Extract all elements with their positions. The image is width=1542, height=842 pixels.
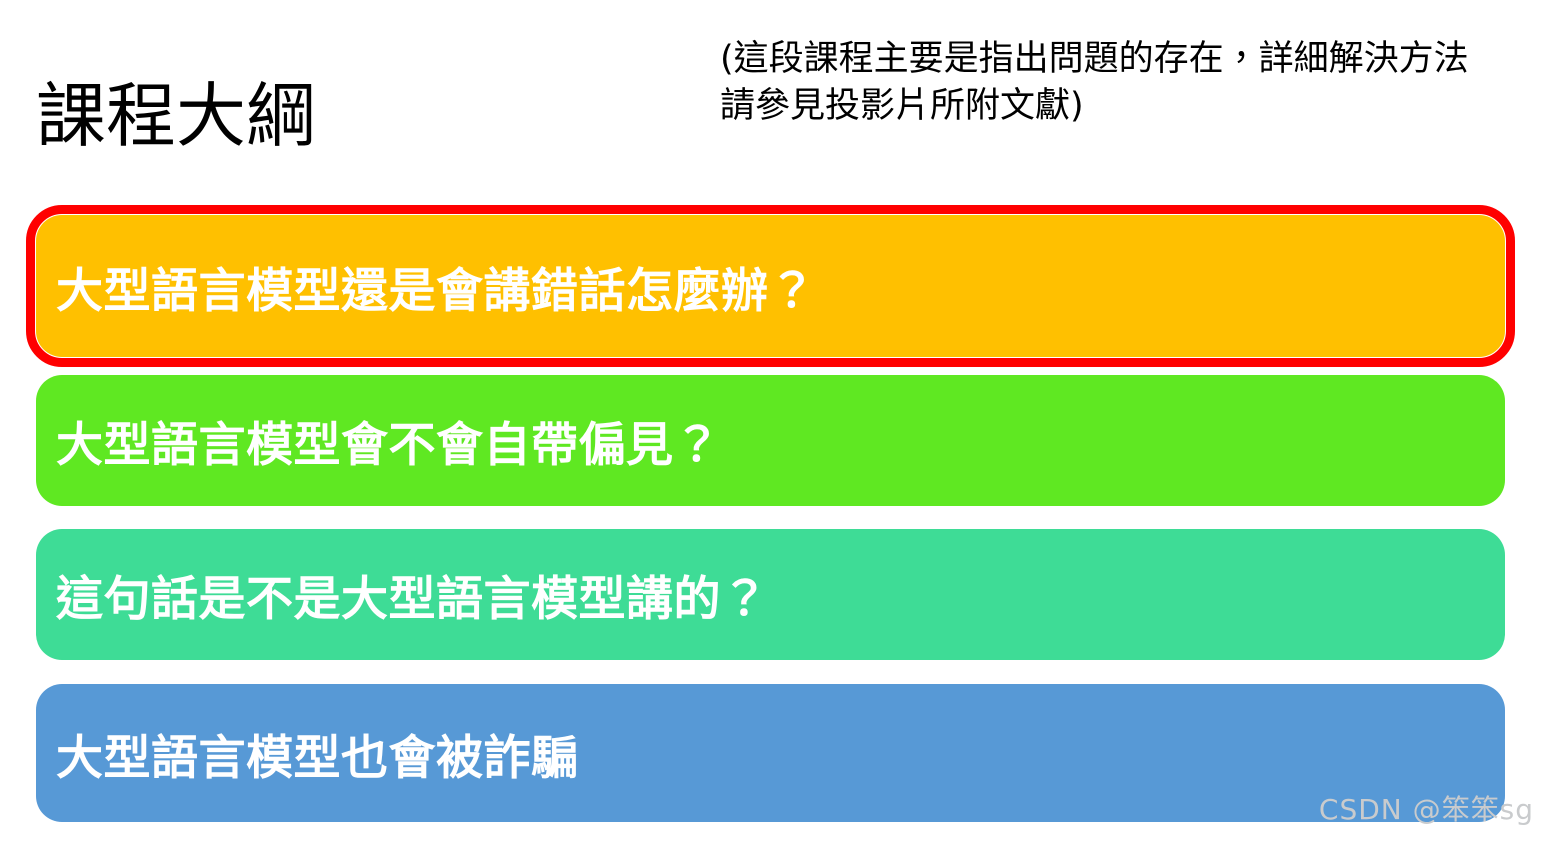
outline-label-2: 大型語言模型會不會自帶偏見？	[36, 406, 721, 475]
outline-label-3: 這句話是不是大型語言模型講的？	[36, 560, 769, 629]
outline-bar-2[interactable]: 大型語言模型會不會自帶偏見？	[36, 375, 1505, 506]
outline-label-4: 大型語言模型也會被詐騙	[36, 719, 579, 788]
outline-bar-1[interactable]: 大型語言模型還是會講錯話怎麼辦？	[36, 215, 1505, 357]
outline-list: 大型語言模型還是會講錯話怎麼辦？ 大型語言模型會不會自帶偏見？ 這句話是不是大型…	[0, 0, 1542, 842]
outline-bar-3[interactable]: 這句話是不是大型語言模型講的？	[36, 529, 1505, 660]
slide-canvas: 課程大綱 (這段課程主要是指出問題的存在，詳細解決方法請參見投影片所附文獻) 大…	[0, 0, 1542, 842]
outline-label-1: 大型語言模型還是會講錯話怎麼辦？	[36, 252, 816, 321]
outline-bar-4[interactable]: 大型語言模型也會被詐騙	[36, 684, 1505, 822]
